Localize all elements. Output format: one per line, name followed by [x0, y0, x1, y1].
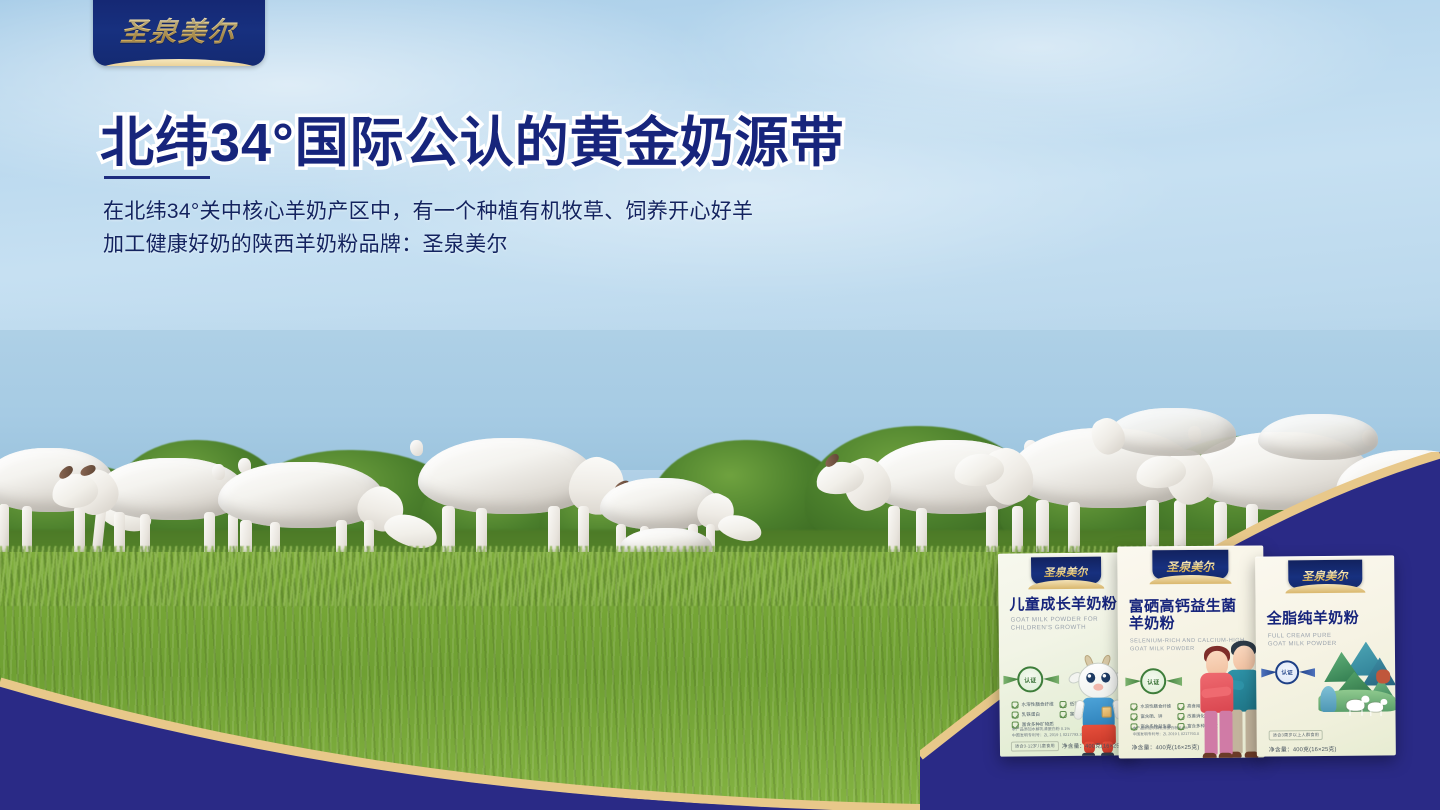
product-brand-badge: 圣泉美尔	[1152, 550, 1228, 580]
feature-item: 水溶性膳食纤维	[1011, 701, 1053, 708]
product-box-selenium[interactable]: 圣泉美尔 富硒高钙益生菌 羊奶粉 SELENIUM-RICH AND CALCI…	[1117, 545, 1264, 758]
product-title-line-2: 羊奶粉	[1129, 615, 1237, 633]
product-fine-print: 本产品添加水解乳清蛋白粉 0.1% 中国发明专利号：ZL 2019 1 0217…	[1133, 726, 1200, 738]
certification-seal-text: 认证	[1281, 668, 1292, 676]
check-icon	[1060, 701, 1067, 708]
brand-logo-text: 圣泉美尔	[119, 10, 239, 49]
product-lineup: 圣泉美尔 儿童成长羊奶粉 GOAT MILK POWDER FOR CHILDR…	[0, 0, 1440, 810]
product-title: 儿童成长羊奶粉	[1009, 595, 1117, 614]
check-icon	[1130, 713, 1137, 720]
product-brand-badge: 圣泉美尔	[1288, 560, 1362, 589]
seal-wing-right-icon	[1299, 668, 1315, 677]
seal-wing-right-icon	[1043, 675, 1059, 684]
product-title: 全脂纯羊奶粉	[1267, 610, 1360, 628]
product-net-weight: 净含量：400克(16×25克)	[1269, 744, 1337, 754]
check-icon	[1012, 712, 1019, 719]
check-icon	[1130, 703, 1137, 710]
check-icon	[1060, 711, 1067, 718]
product-title-en-line-1: SELENIUM-RICH AND CALCIUM-HIGH	[1130, 638, 1245, 646]
product-brand-badge-text: 圣泉美尔	[1302, 567, 1348, 583]
product-brand-badge-text: 圣泉美尔	[1166, 557, 1214, 574]
certification-seal-text: 认证	[1024, 675, 1036, 684]
check-icon	[1177, 713, 1184, 720]
product-fine-print-line-2: 中国发明专利号：ZL 2019 1 0217793.X	[1133, 732, 1200, 738]
product-title-en: GOAT MILK POWDER FOR CHILDREN'S GROWTH	[1011, 616, 1099, 634]
certification-seal: 认证	[1017, 666, 1043, 692]
certification-seal: 认证	[1140, 668, 1166, 694]
product-brand-badge: 圣泉美尔	[1030, 557, 1100, 585]
check-icon	[1011, 702, 1018, 709]
product-audience-tag: 适合3周岁以上人群食用	[1269, 730, 1323, 740]
seal-wing-right-icon	[1166, 677, 1182, 686]
product-brand-badge-text: 圣泉美尔	[1044, 564, 1088, 580]
product-title-en-line-2: CHILDREN'S GROWTH	[1011, 624, 1099, 633]
product-audience-tag: 适合3-12岁儿童食用	[1011, 741, 1059, 752]
feature-item: 富含硒、锌	[1130, 713, 1171, 720]
product-fine-print: 本产品添加水解乳清蛋白粉 0.1% 中国发明专利号：ZL 2019 1 0217…	[1012, 726, 1082, 739]
chinese-landscape-icon	[1318, 641, 1395, 724]
certification-seal-text: 认证	[1147, 677, 1159, 686]
feature-item: 水溶性膳食纤维	[1130, 703, 1171, 710]
hero-banner: 圣泉美尔 北纬34°国际公认的黄金奶源带 在北纬34°关中核心羊奶产区中，有一个…	[0, 0, 1440, 810]
check-icon	[1177, 703, 1184, 710]
product-box-full-cream[interactable]: 圣泉美尔 全脂纯羊奶粉 FULL CREAM PURE GOAT MILK PO…	[1255, 555, 1396, 756]
feature-item: 乳铁蛋白	[1012, 711, 1054, 718]
product-box-children[interactable]: 圣泉美尔 儿童成长羊奶粉 GOAT MILK POWDER FOR CHILDR…	[998, 552, 1135, 756]
seal-wing-left-icon	[1125, 677, 1141, 686]
certification-seal: 认证	[1275, 660, 1299, 684]
product-title: 富硒高钙益生菌 羊奶粉	[1129, 598, 1237, 634]
product-title-line-1: 富硒高钙益生菌	[1129, 598, 1237, 616]
product-fine-print-line-2: 中国发明专利号：ZL 2019 1 0217793.X	[1012, 732, 1082, 739]
product-net-weight: 净含量：400克(16×25克)	[1132, 742, 1200, 751]
